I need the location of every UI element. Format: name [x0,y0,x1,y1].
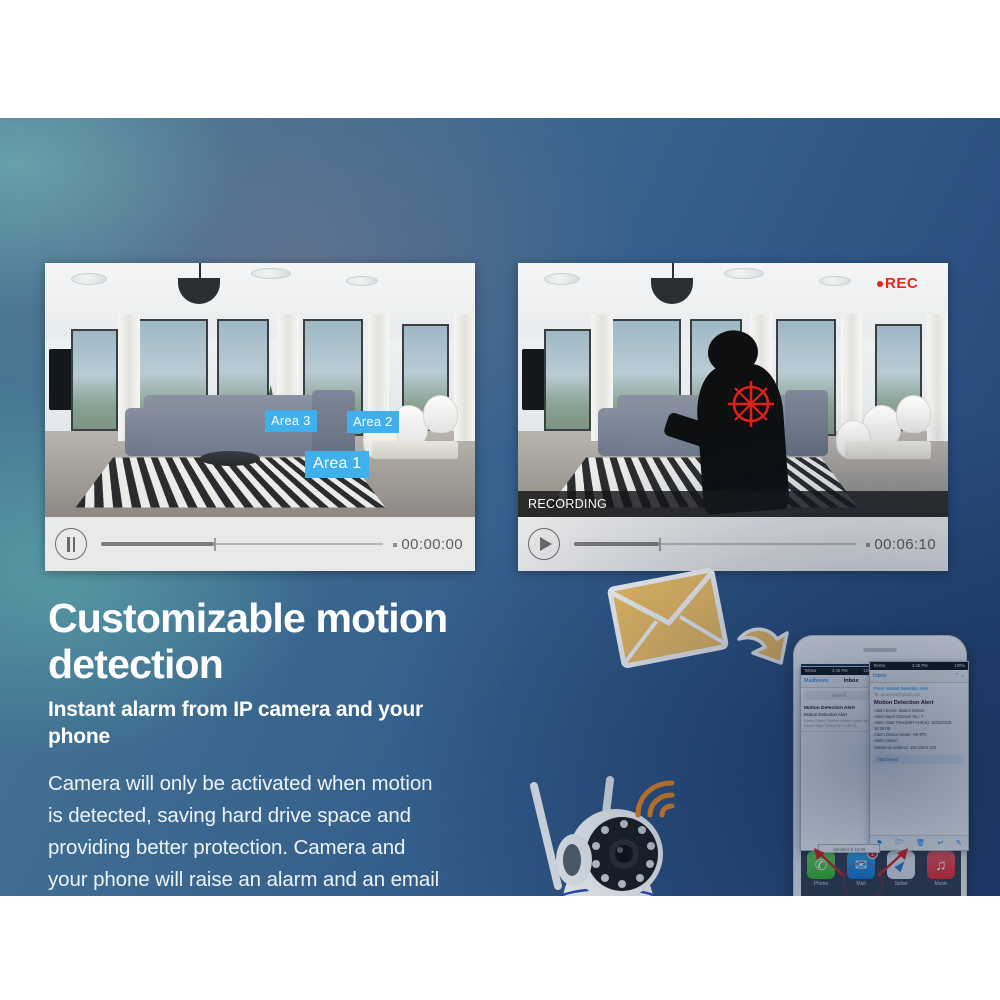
play-button[interactable] [528,528,560,560]
page-subtitle: Instant alarm from IP camera and your ph… [48,696,478,750]
product-feature-slide: 00:00:00 Area 3 Area 2 Area 1 [0,0,1000,1000]
live-view-player[interactable]: 00:00:00 [45,263,475,571]
message-nav-icons[interactable]: ⌃ ⌄ [954,673,965,679]
inbox-navbar[interactable]: Mailboxes Inbox [801,675,877,688]
curved-arrow-icon [737,623,789,669]
play-icon [540,537,552,551]
dock-label: Phone [806,881,836,887]
timestamp-left: 00:00:00 [393,536,463,553]
search-input[interactable]: Search [804,691,874,700]
phone-speaker [863,648,897,652]
alarm-field: Sender Ip Address: 192.168.0.102 [874,745,964,751]
progress-track-left[interactable] [101,538,383,550]
pause-button[interactable] [55,528,87,560]
envelope-icon [604,563,731,673]
clock-label: 3:45 PM [832,667,848,675]
clock-label: 3:45 PM [912,662,928,670]
carrier-label: Telstra [804,667,816,675]
reply-icon[interactable]: ↩ [938,839,944,847]
stop-marker-icon [866,543,870,547]
message-body: Alarm Event: Motion Detect Alarm Input C… [870,708,968,751]
music-icon: ♫ [927,851,955,879]
body-copy: Camera will only be activated when motio… [48,768,448,896]
stop-marker-icon [393,543,397,547]
pause-icon [67,537,75,552]
crosshair-target-icon [727,380,775,428]
detail-navbar[interactable]: Inbox ⌃ ⌄ [870,670,968,683]
rec-dot-icon [877,281,883,287]
list-item[interactable]: Motion Detection Alert Motion Detection … [801,703,877,732]
compose-icon[interactable]: ✎ [956,839,962,847]
annotation-arrow-right-icon [876,848,910,878]
live-view-screen [45,263,475,517]
player-controls-left[interactable]: 00:00:00 [45,517,475,571]
area-tag-2[interactable]: Area 2 [347,411,399,433]
timestamp-right: 00:06:10 [866,536,936,553]
dock-app-music[interactable]: ♫ Music [926,851,956,887]
folder-icon[interactable]: 🗁 [895,838,904,849]
annotation-arrow-left-icon [812,848,846,878]
message-meta: From: Motion Detection Alert To: ipcamer… [870,683,968,697]
inbox-title: Inbox [844,678,859,684]
wifi-waves-icon [632,773,686,819]
back-to-inbox[interactable]: Inbox [873,673,886,679]
area-tag-1[interactable]: Area 1 [305,451,369,478]
area-tag-3[interactable]: Area 3 [265,410,317,432]
message-subject: Motion Detection Alert [870,697,968,708]
attachment-chip[interactable]: Attachment [874,755,964,764]
mail-preview: Alarm Event: Motion Detect Alarm No.: 7 … [804,718,874,728]
ios-status-bar: Telstra 3:45 PM 100% [801,667,877,675]
living-room-scene [45,263,475,517]
mail-detail-screenshot[interactable]: Telstra 3:45 PM 100% Inbox ⌃ ⌄ From: Mot… [869,661,969,851]
player-controls-right[interactable]: 00:06:10 [518,517,948,571]
alarm-field: Alarm Start Time(DMY H:M:S): 19/02/2016 … [874,720,964,732]
progress-track-right[interactable] [574,538,856,550]
dock-label: Music [926,881,956,887]
recording-status-strip: RECORDING [518,491,948,517]
dock-label: Safari [886,881,916,887]
mail-inbox-screenshot[interactable]: Telstra 3:45 PM 100% Mailboxes Inbox Sea… [800,666,878,851]
back-to-mailboxes[interactable]: Mailboxes [804,678,828,684]
feature-panel: 00:00:00 Area 3 Area 2 Area 1 [0,118,1000,896]
ios-status-bar: Telstra 3:45 PM 100% [870,662,968,670]
carrier-label: Telstra [873,662,885,670]
rec-badge: REC [877,275,918,292]
trash-icon[interactable]: 🗑 [916,839,925,847]
battery-label: 100% [954,662,965,670]
page-title: Customizable motion detection [48,595,518,687]
